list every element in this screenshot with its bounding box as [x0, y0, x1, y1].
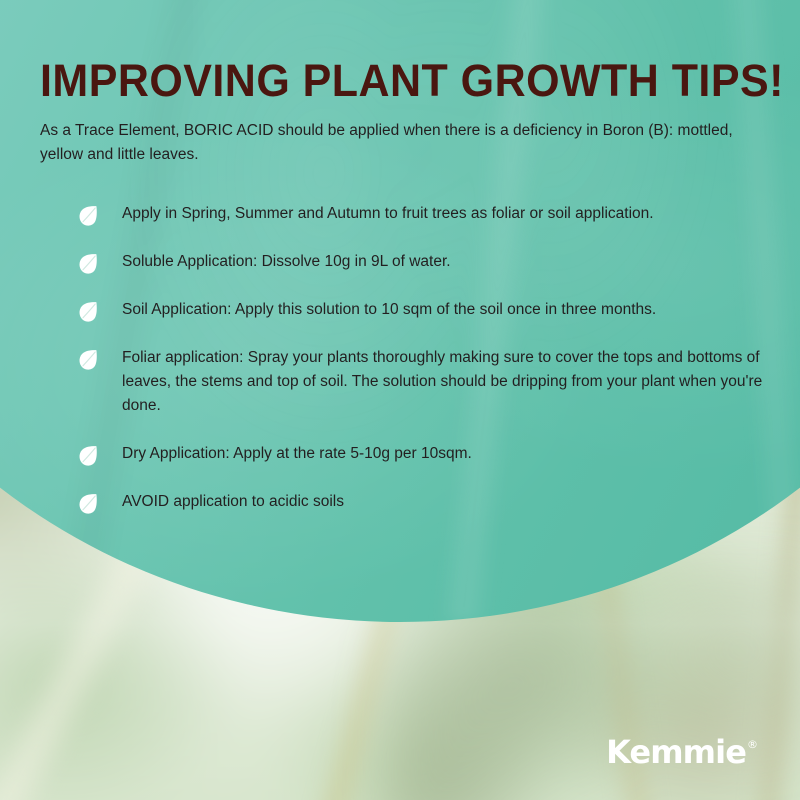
list-item-text: Soil Application: Apply this solution to…	[122, 298, 778, 322]
list-item: Dry Application: Apply at the rate 5-10g…	[78, 442, 778, 466]
leaf-icon	[78, 301, 98, 323]
list-item: Soil Application: Apply this solution to…	[78, 298, 778, 322]
list-item-text: AVOID application to acidic soils	[122, 490, 778, 514]
list-item: AVOID application to acidic soils	[78, 490, 778, 514]
leaf-icon	[78, 445, 98, 467]
list-item-text: Dry Application: Apply at the rate 5-10g…	[122, 442, 778, 466]
registered-trademark-icon: ®	[747, 738, 758, 751]
intro-paragraph: As a Trace Element, BORIC ACID should be…	[40, 119, 740, 167]
list-item-text: Soluble Application: Dissolve 10g in 9L …	[122, 250, 778, 274]
leaf-icon	[78, 349, 98, 371]
brand-logo: Kemmie ®	[606, 736, 758, 768]
brand-name: Kemmie	[606, 736, 746, 768]
tips-list: Apply in Spring, Summer and Autumn to fr…	[78, 202, 778, 538]
list-item: Foliar application: Spray your plants th…	[78, 346, 778, 418]
page-title: IMPROVING PLANT GROWTH TIPS!	[40, 58, 709, 104]
leaf-icon	[78, 253, 98, 275]
list-item-text: Foliar application: Spray your plants th…	[122, 346, 778, 418]
list-item-text: Apply in Spring, Summer and Autumn to fr…	[122, 202, 778, 226]
poster-content: IMPROVING PLANT GROWTH TIPS! As a Trace …	[0, 0, 800, 800]
list-item: Soluble Application: Dissolve 10g in 9L …	[78, 250, 778, 274]
leaf-icon	[78, 493, 98, 515]
poster: IMPROVING PLANT GROWTH TIPS! As a Trace …	[0, 0, 800, 800]
list-item: Apply in Spring, Summer and Autumn to fr…	[78, 202, 778, 226]
leaf-icon	[78, 205, 98, 227]
